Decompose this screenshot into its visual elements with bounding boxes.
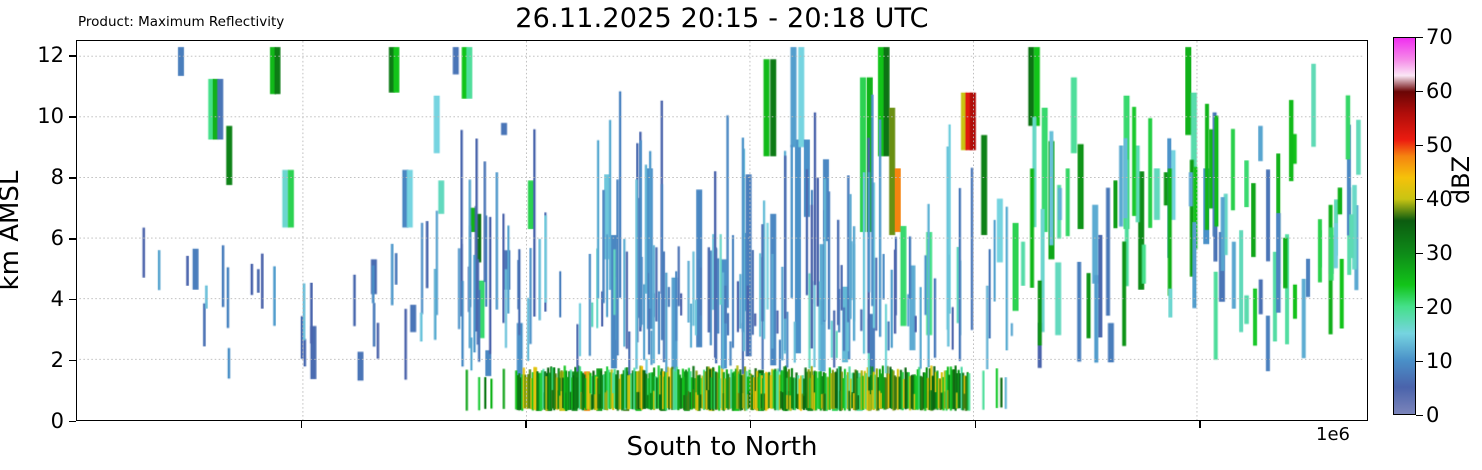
radar-cross-section-figure: 26.11.2025 20:15 - 20:18 UTC Product: Ma…	[0, 0, 1482, 470]
colorbar-gradient	[1393, 37, 1416, 415]
x-axis-label: South to North	[76, 432, 1368, 462]
colorbar-tick-mark	[1416, 199, 1423, 200]
x-axis-tick-mark	[1199, 421, 1200, 428]
colorbar-label: dBZ	[1448, 120, 1474, 240]
y-axis-tick-label: 6	[51, 226, 64, 250]
colorbar-tick-mark	[1416, 91, 1423, 92]
y-axis-tick-mark	[69, 299, 76, 300]
x-axis-tick-mark	[525, 421, 526, 428]
y-axis-tick-mark	[69, 238, 76, 239]
y-axis-tick-label: 4	[51, 287, 64, 311]
colorbar-tick-mark	[1416, 307, 1423, 308]
y-axis-tick-mark	[69, 116, 76, 117]
x-axis-tick-mark	[301, 421, 302, 428]
colorbar-tick-label: 10	[1426, 349, 1453, 373]
y-axis-tick-label: 2	[51, 348, 64, 372]
colorbar-tick-label: 20	[1426, 295, 1453, 319]
colorbar-tick-mark	[1416, 361, 1423, 362]
x-axis-tick-mark	[975, 421, 976, 428]
plot-area	[76, 40, 1368, 421]
y-axis-tick-label: 12	[37, 43, 64, 67]
y-axis-tick-mark	[69, 360, 76, 361]
x-axis-offset-text: 1e6	[1316, 425, 1350, 445]
colorbar-tick-mark	[1416, 37, 1423, 38]
y-axis-tick-label: 10	[37, 104, 64, 128]
y-axis-tick-mark	[69, 55, 76, 56]
colorbar-tick-label: 0	[1426, 403, 1439, 427]
product-label: Product: Maximum Reflectivity	[78, 14, 284, 30]
colorbar-tick-label: 70	[1426, 25, 1453, 49]
colorbar-tick-mark	[1416, 415, 1423, 416]
y-axis-tick-label: 0	[51, 409, 64, 433]
colorbar: 010203040506070	[1393, 37, 1416, 415]
colorbar-tick-label: 30	[1426, 241, 1453, 265]
colorbar-tick-label: 60	[1426, 79, 1453, 103]
y-axis-tick-mark	[69, 177, 76, 178]
y-axis-label: km AMSL	[0, 40, 24, 421]
y-axis-tick-label: 8	[51, 165, 64, 189]
x-axis-tick-mark	[750, 421, 751, 428]
reflectivity-canvas	[77, 41, 1367, 420]
y-axis-tick-mark	[69, 421, 76, 422]
colorbar-tick-mark	[1416, 145, 1423, 146]
colorbar-tick-mark	[1416, 253, 1423, 254]
